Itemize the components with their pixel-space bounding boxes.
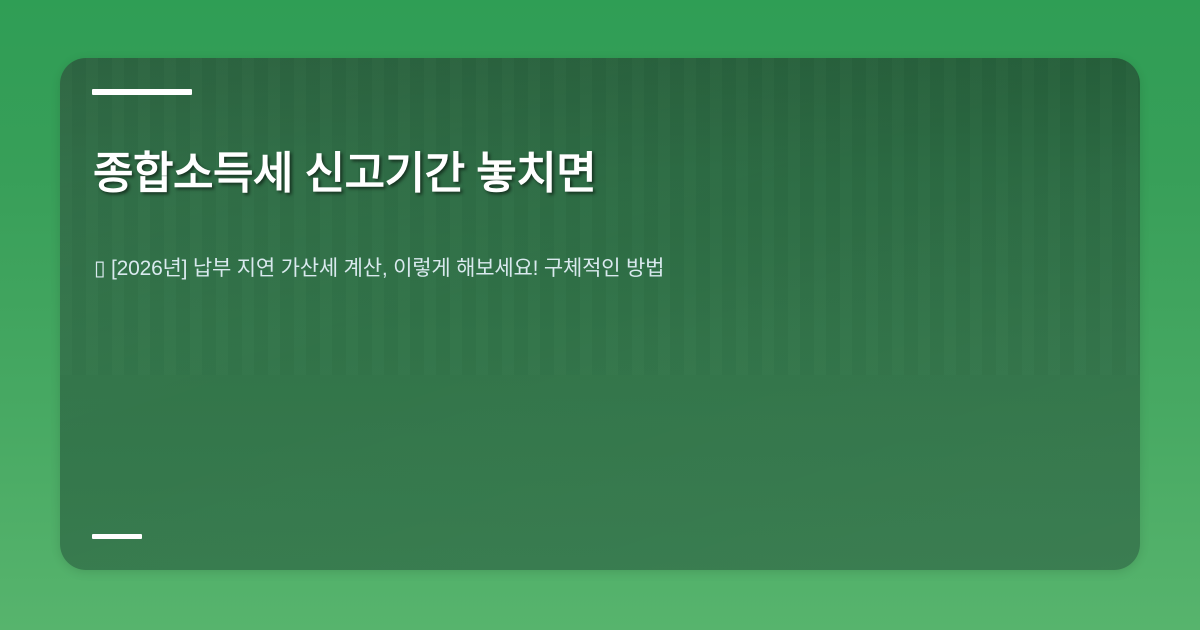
card-sheen-overlay — [60, 58, 1140, 570]
thumbnail-canvas: 종합소득세 신고기간 놓치면 ▯ [2026년] 납부 지연 가산세 계산, 이… — [0, 0, 1200, 630]
page-title: 종합소득세 신고기간 놓치면 — [93, 148, 596, 201]
page-subtitle: ▯ [2026년] 납부 지연 가산세 계산, 이렇게 해보세요! 구체적인 방… — [94, 254, 664, 284]
top-accent-rule — [92, 89, 192, 95]
bottom-accent-rule — [92, 534, 142, 539]
card-stripe-texture — [60, 58, 1140, 375]
content-card: 종합소득세 신고기간 놓치면 ▯ [2026년] 납부 지연 가산세 계산, 이… — [60, 58, 1140, 570]
